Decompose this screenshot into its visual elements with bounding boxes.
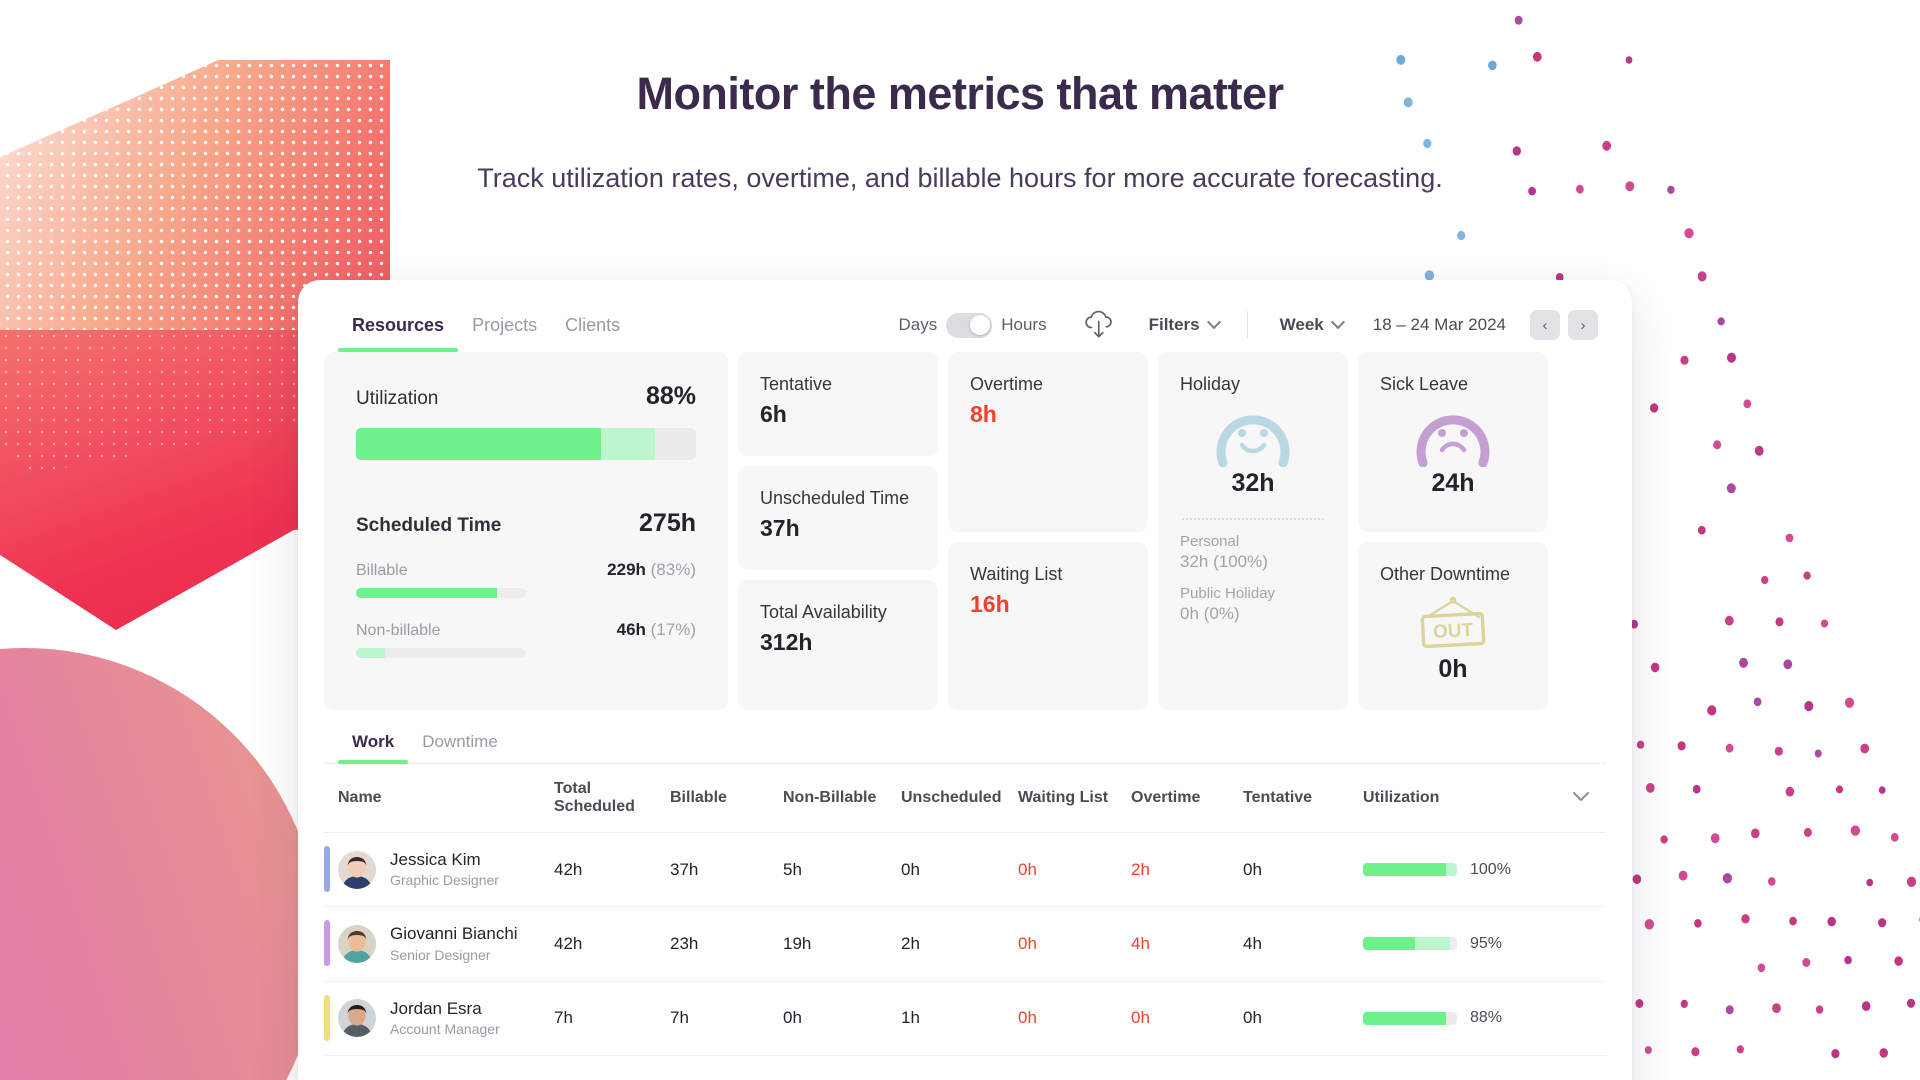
cell-total-scheduled: 7h [554,981,670,1055]
sick-leave-label: Sick Leave [1380,374,1526,395]
cell-billable: 23h [670,907,783,981]
col-total-scheduled[interactable]: Total Scheduled [554,764,670,833]
cell-non-billable: 19h [783,907,901,981]
cell-waiting-list: 0h [1018,907,1131,981]
billable-pct: (83%) [651,560,696,579]
lower-tabs: Work Downtime [324,722,1606,764]
toggle-label-hours: Hours [1001,315,1046,335]
out-sign-icon: OUT [1380,591,1526,653]
avatar [338,999,376,1037]
total-availability-card: Total Availability 312h [738,580,938,710]
holiday-personal-value: 32h (100%) [1180,552,1326,572]
utilization-value: 88% [646,382,696,411]
other-downtime-value: 0h [1380,655,1526,684]
holiday-personal-hours: 32h [1180,552,1208,571]
page-subtitle: Track utilization rates, overtime, and b… [0,163,1920,194]
row-utilization-bar [1363,863,1457,876]
chevron-down-icon [1331,315,1345,329]
date-nav: ‹ › [1530,310,1598,340]
row-utilization-pct: 95% [1470,935,1502,953]
metrics-column-5: Sick Leave 24h Other Downtime [1358,352,1548,710]
row-utilization-bar-secondary [1415,937,1451,950]
row-utilization-bar-primary [1363,937,1415,950]
page-title: Monitor the metrics that matter [0,68,1920,120]
row-role: Account Manager [390,1021,500,1037]
table-row[interactable]: Giovanni BianchiSenior Designer42h23h19h… [324,907,1606,981]
billable-hours: 229h [607,560,646,579]
toggle-label-days: Days [899,315,938,335]
subtab-work[interactable]: Work [338,722,408,763]
waiting-list-label: Waiting List [970,564,1126,585]
non-billable-bar [356,648,526,658]
cell-tentative: 4h [1243,907,1363,981]
subtab-downtime[interactable]: Downtime [408,722,512,763]
col-overtime[interactable]: Overtime [1131,764,1243,833]
cell-waiting-list: 0h [1018,833,1131,907]
holiday-personal-label: Personal [1180,533,1326,550]
utilization-bar [356,428,696,460]
cloud-download-icon[interactable] [1081,308,1117,342]
cell-billable: 7h [670,981,783,1055]
billable-value: 229h (83%) [607,560,696,580]
days-hours-toggle[interactable]: Days Hours [899,313,1047,338]
utilization-label: Utilization [356,388,438,410]
toolbar-controls: Days Hours Filters W [899,280,1599,352]
metrics-column-3: Overtime 8h Waiting List 16h [948,352,1148,710]
toolbar-divider [1247,311,1248,339]
table-body: Jessica KimGraphic Designer42h37h5h0h0h2… [324,833,1606,1056]
chevron-down-icon[interactable] [1572,789,1590,807]
sick-leave-value: 24h [1380,469,1526,498]
row-name: Giovanni Bianchi [390,924,518,943]
cell-name: Jordan EsraAccount Manager [324,981,554,1055]
table-row[interactable]: Jessica KimGraphic Designer42h37h5h0h0h2… [324,833,1606,907]
other-downtime-card: Other Downtime OUT 0h [1358,542,1548,710]
holiday-divider [1182,518,1324,520]
row-color-bar [324,846,330,892]
row-name: Jordan Esra [390,999,482,1018]
scheduled-time-header: Scheduled Time 275h [356,509,696,538]
row-utilization-bar-primary [1363,863,1446,876]
cell-name: Jessica KimGraphic Designer [324,833,554,907]
row-utilization-bar-secondary [1446,863,1457,876]
row-color-bar [324,995,330,1041]
billable-row: Billable 229h (83%) [356,560,696,598]
cell-overtime: 2h [1131,833,1243,907]
cell-non-billable: 5h [783,833,901,907]
prev-period-button[interactable]: ‹ [1530,310,1560,340]
non-billable-hours: 46h [617,620,646,639]
non-billable-value: 46h (17%) [617,620,696,640]
sick-leave-card: Sick Leave 24h [1358,352,1548,532]
unscheduled-time-value: 37h [760,515,916,542]
col-name[interactable]: Name [324,764,554,833]
avatar [338,925,376,963]
cell-name: Giovanni BianchiSenior Designer [324,907,554,981]
non-billable-row: Non-billable 46h (17%) [356,620,696,658]
utilization-bar-primary [356,428,601,460]
tab-projects[interactable]: Projects [458,315,551,352]
filters-label: Filters [1149,315,1200,335]
row-utilization-bar [1363,1012,1457,1025]
filters-dropdown[interactable]: Filters [1149,315,1219,335]
period-label: Week [1280,315,1324,335]
row-color-bar [324,920,330,966]
tentative-label: Tentative [760,374,916,395]
row-utilization-pct: 88% [1470,1009,1502,1027]
total-availability-value: 312h [760,629,916,656]
billable-label: Billable [356,562,408,580]
date-range-label: 18 – 24 Mar 2024 [1373,315,1506,335]
col-total-scheduled-line2: Scheduled [554,798,670,816]
holiday-value: 32h [1180,469,1326,498]
table-row[interactable]: Jordan EsraAccount Manager7h7h0h1h0h0h0h… [324,981,1606,1055]
col-non-billable[interactable]: Non-Billable [783,764,901,833]
smiley-face-icon [1180,401,1326,467]
waiting-list-card: Waiting List 16h [948,542,1148,710]
billable-bar [356,588,526,598]
avatar [338,851,376,889]
cell-billable: 37h [670,833,783,907]
row-role: Graphic Designer [390,872,499,888]
holiday-public-hours: 0h [1180,604,1199,623]
cell-unscheduled: 0h [901,833,1018,907]
holiday-public-pct: (0%) [1204,604,1240,623]
scheduled-time-label: Scheduled Time [356,515,501,537]
main-tabs: Resources Projects Clients [324,280,634,352]
tab-resources[interactable]: Resources [338,315,458,352]
holiday-public-value: 0h (0%) [1180,604,1326,624]
row-name: Jessica Kim [390,850,481,869]
col-tentative[interactable]: Tentative [1243,764,1363,833]
col-billable[interactable]: Billable [670,764,783,833]
col-waiting-list[interactable]: Waiting List [1018,764,1131,833]
unscheduled-time-card: Unscheduled Time 37h [738,466,938,570]
overtime-card: Overtime 8h [948,352,1148,532]
sad-face-icon [1380,401,1526,467]
non-billable-label: Non-billable [356,622,441,640]
holiday-personal-pct: (100%) [1213,552,1268,571]
toggle-knob [970,315,990,335]
overtime-value: 8h [970,401,1126,428]
cell-utilization: 95% [1363,907,1606,981]
red-wedge-decoration [0,330,340,630]
overtime-label: Overtime [970,374,1126,395]
cell-unscheduled: 1h [901,981,1018,1055]
page-root: Monitor the metrics that matter Track ut… [0,0,1920,1080]
next-period-button[interactable]: › [1568,310,1598,340]
cell-utilization: 100% [1363,833,1606,907]
row-utilization-pct: 100% [1470,861,1511,879]
waiting-list-value: 16h [970,591,1126,618]
utilization-header: Utilization 88% [356,382,696,411]
cell-overtime: 0h [1131,981,1243,1055]
utilization-bar-secondary [601,428,655,460]
holiday-card: Holiday 32h Personal 32h ( [1158,352,1348,710]
row-utilization-bar [1363,937,1457,950]
non-billable-pct: (17%) [651,620,696,639]
toolbar: Resources Projects Clients Days Hours [298,280,1632,352]
non-billable-bar-fill [356,648,385,658]
col-utilization[interactable]: Utilization [1363,764,1606,833]
chevron-down-icon [1207,315,1221,329]
col-unscheduled[interactable]: Unscheduled [901,764,1018,833]
pink-circle-decoration [0,648,320,1080]
cell-unscheduled: 2h [901,907,1018,981]
table-header: Name Total Scheduled Billable Non-Billab… [324,764,1606,833]
utilization-card: Utilization 88% Scheduled Time 275h Bill… [324,352,728,710]
cell-overtime: 4h [1131,907,1243,981]
toggle-switch[interactable] [946,313,992,338]
unscheduled-time-label: Unscheduled Time [760,488,916,509]
holiday-public-label: Public Holiday [1180,585,1326,602]
metrics-column-4: Holiday 32h Personal 32h ( [1158,352,1348,710]
svg-text:OUT: OUT [1433,620,1475,643]
cell-tentative: 0h [1243,833,1363,907]
billable-bar-fill [356,588,497,598]
table-header-row: Name Total Scheduled Billable Non-Billab… [324,764,1606,833]
row-role: Senior Designer [390,947,490,963]
other-downtime-label: Other Downtime [1380,564,1526,585]
metrics-grid: Utilization 88% Scheduled Time 275h Bill… [298,352,1632,710]
metrics-column-2: Tentative 6h Unscheduled Time 37h Total … [738,352,938,710]
row-utilization-bar-primary [1363,1012,1446,1025]
lower-section: Work Downtime Name Total Scheduled [298,722,1632,1056]
tab-clients[interactable]: Clients [551,315,634,352]
scheduled-time-value: 275h [639,509,696,538]
cell-utilization: 88% [1363,981,1606,1055]
col-utilization-label: Utilization [1363,789,1439,806]
cell-non-billable: 0h [783,981,901,1055]
cell-tentative: 0h [1243,981,1363,1055]
cell-total-scheduled: 42h [554,907,670,981]
resources-table: Name Total Scheduled Billable Non-Billab… [324,764,1606,1056]
total-availability-label: Total Availability [760,602,916,623]
col-total-scheduled-line1: Total [554,780,670,798]
cell-waiting-list: 0h [1018,981,1131,1055]
period-dropdown[interactable]: Week [1280,315,1343,335]
app-window: Resources Projects Clients Days Hours [298,280,1632,1080]
tentative-card: Tentative 6h [738,352,938,456]
tentative-value: 6h [760,401,916,428]
cell-total-scheduled: 42h [554,833,670,907]
holiday-label: Holiday [1180,374,1326,395]
